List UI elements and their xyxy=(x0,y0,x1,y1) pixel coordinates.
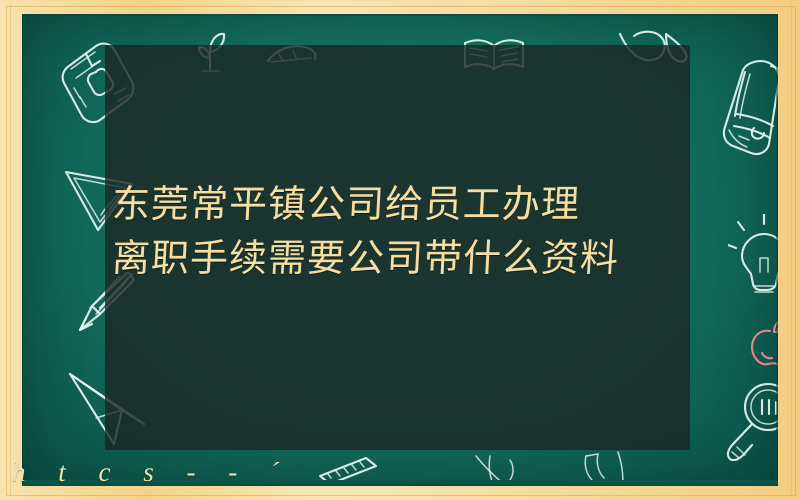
headline-line-2: 离职手续需要公司带什么资料 xyxy=(111,232,694,286)
title-card: 东莞常平镇公司给员工办理 离职手续需要公司带什么资料 h t c s - - ´ xyxy=(0,0,800,500)
headline-line-1: 东莞常平镇公司给员工办理 xyxy=(111,178,694,232)
headline: 东莞常平镇公司给员工办理 离职手续需要公司带什么资料 xyxy=(112,178,692,286)
bottom-chalk-letters: h t c s - - ´ xyxy=(12,457,292,488)
